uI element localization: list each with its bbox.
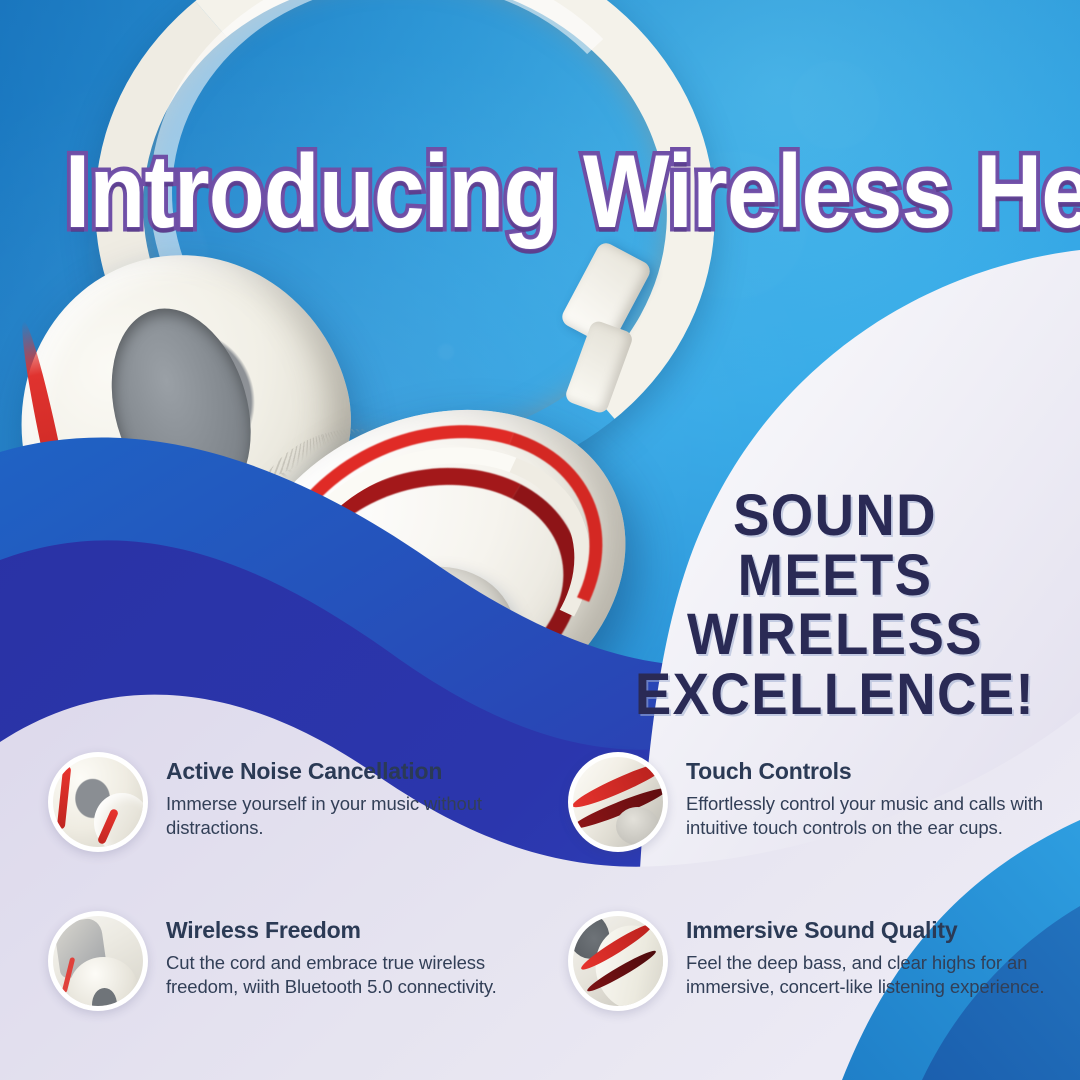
feature-body: Feel the deep bass, and clear highs for … — [686, 951, 1078, 999]
feature-heading: Wireless Freedom — [166, 917, 526, 944]
page-title: Introducing Wireless Headphones — [65, 140, 1015, 244]
feature-item-immersive-sound-quality: Immersive Sound Quality Feel the deep ba… — [568, 911, 1080, 1052]
feature-body: Effortlessly control your music and call… — [686, 792, 1078, 840]
headline-line-4: EXCELLENCE! — [633, 665, 1037, 725]
headline-line-1: SOUND — [633, 486, 1037, 546]
feature-heading: Active Noise Cancellation — [166, 758, 526, 785]
headline-line-3: WIRELESS — [633, 605, 1037, 665]
feature-heading: Touch Controls — [686, 758, 1078, 785]
feature-item-wireless-freedom: Wireless Freedom Cut the cord and embrac… — [48, 911, 544, 1052]
feature-body: Immerse yourself in your music without d… — [166, 792, 526, 840]
dual-cup-thumbnail-icon — [568, 911, 668, 1011]
feature-body: Cut the cord and embrace true wireless f… — [166, 951, 526, 999]
headline-line-2: MEETS — [633, 546, 1037, 606]
feature-item-touch-controls: Touch Controls Effortlessly control your… — [568, 752, 1080, 893]
headband-pad-thumbnail-icon — [48, 911, 148, 1011]
feature-list: Active Noise Cancellation Immerse yourse… — [0, 752, 1080, 1052]
ear-cup-thumbnail-icon — [48, 752, 148, 852]
promo-poster: Introducing Wireless Headphones SOUND ME… — [0, 0, 1080, 1080]
headline-block: SOUND MEETS WIRELESS EXCELLENCE! — [633, 486, 1037, 725]
feature-item-active-noise-cancellation: Active Noise Cancellation Immerse yourse… — [48, 752, 544, 893]
feature-heading: Immersive Sound Quality — [686, 917, 1078, 944]
touch-control-cup-thumbnail-icon — [568, 752, 668, 852]
